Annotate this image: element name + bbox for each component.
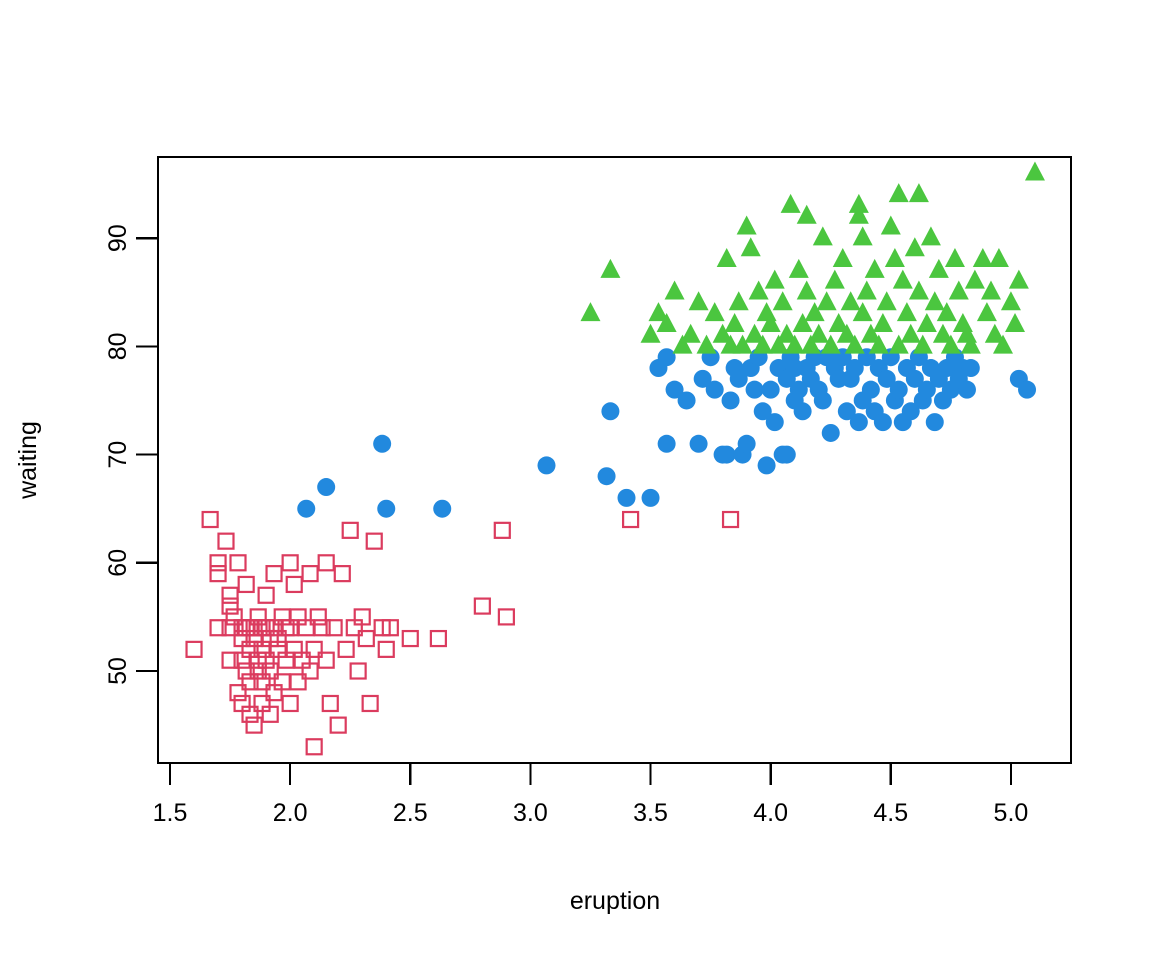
x-tick-label: 3.5 <box>633 799 668 827</box>
data-point-circle <box>618 489 636 507</box>
data-point-circle <box>1018 381 1036 399</box>
data-point-circle <box>778 446 796 464</box>
data-point-circle <box>794 402 812 420</box>
data-point-circle <box>601 402 619 420</box>
data-point-circle <box>706 381 724 399</box>
data-point-circle <box>766 413 784 431</box>
data-point-circle <box>746 381 764 399</box>
data-point-circle <box>658 435 676 453</box>
x-tick-label: 4.5 <box>873 799 908 827</box>
data-point-circle <box>958 381 976 399</box>
data-point-circle <box>862 381 880 399</box>
y-tick-label: 60 <box>104 549 132 577</box>
data-point-circle <box>377 500 395 518</box>
data-point-circle <box>538 456 556 474</box>
data-point-circle <box>814 391 832 409</box>
data-point-circle <box>373 435 391 453</box>
data-point-circle <box>874 413 892 431</box>
data-point-circle <box>642 489 660 507</box>
x-tick-label: 1.5 <box>153 799 188 827</box>
data-point-circle <box>722 391 740 409</box>
data-point-circle <box>738 435 756 453</box>
x-tick-label: 2.0 <box>273 799 308 827</box>
data-point-circle <box>890 381 908 399</box>
data-point-circle <box>678 391 696 409</box>
x-tick-label: 2.5 <box>393 799 428 827</box>
x-axis-title: eruption <box>570 887 660 915</box>
x-tick-label: 5.0 <box>994 799 1029 827</box>
data-point-circle <box>758 456 776 474</box>
data-point-circle <box>718 446 736 464</box>
data-point-circle <box>690 435 708 453</box>
x-tick-label: 4.0 <box>753 799 788 827</box>
data-point-circle <box>598 467 616 485</box>
y-axis-title: waiting <box>14 421 42 500</box>
chart-canvas: 1.52.02.53.03.54.04.55.0 5060708090 erup… <box>0 0 1152 960</box>
data-point-circle <box>822 424 840 442</box>
scatter-plot-figure: 1.52.02.53.03.54.04.55.0 5060708090 erup… <box>0 0 1152 960</box>
data-point-circle <box>962 359 980 377</box>
data-point-circle <box>658 348 676 366</box>
data-point-circle <box>762 381 780 399</box>
y-tick-label: 80 <box>104 332 132 360</box>
data-point-circle <box>926 413 944 431</box>
y-tick-label: 90 <box>104 224 132 252</box>
x-tick-label: 3.0 <box>513 799 548 827</box>
data-point-circle <box>317 478 335 496</box>
y-tick-label: 70 <box>104 441 132 469</box>
y-tick-label: 50 <box>104 657 132 685</box>
data-point-circle <box>850 413 868 431</box>
data-point-circle <box>297 500 315 518</box>
data-point-circle <box>433 500 451 518</box>
